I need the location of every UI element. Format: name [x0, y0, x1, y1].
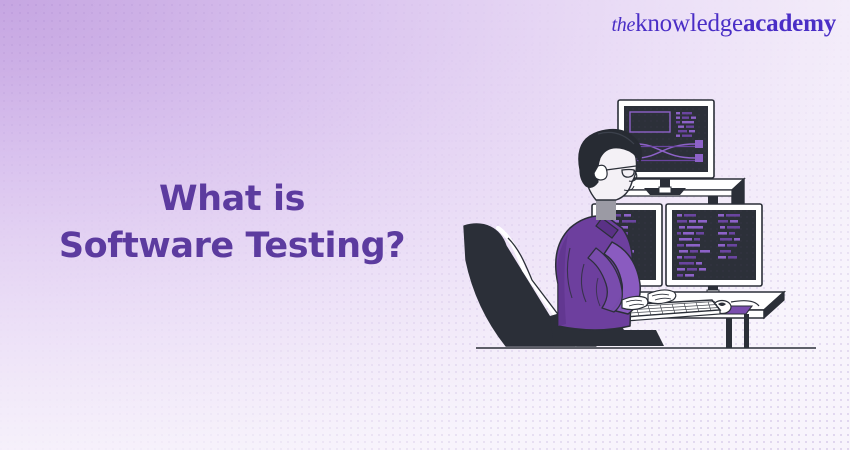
hero-illustration [446, 78, 846, 374]
logo-word-academy: academy [743, 10, 836, 37]
banner-canvas: theknowledgeacademy What is Software Tes… [0, 0, 850, 450]
brand-logo[interactable]: theknowledgeacademy [612, 11, 836, 36]
logo-word-knowledge: knowledge [635, 10, 743, 37]
page-title: What is Software Testing? [36, 176, 428, 270]
page-title-line-1: What is [36, 176, 428, 223]
right-monitor [666, 196, 762, 299]
illustration-svg [446, 78, 846, 374]
logo-word-the: the [612, 14, 636, 36]
page-title-line-2: Software Testing? [36, 223, 428, 270]
